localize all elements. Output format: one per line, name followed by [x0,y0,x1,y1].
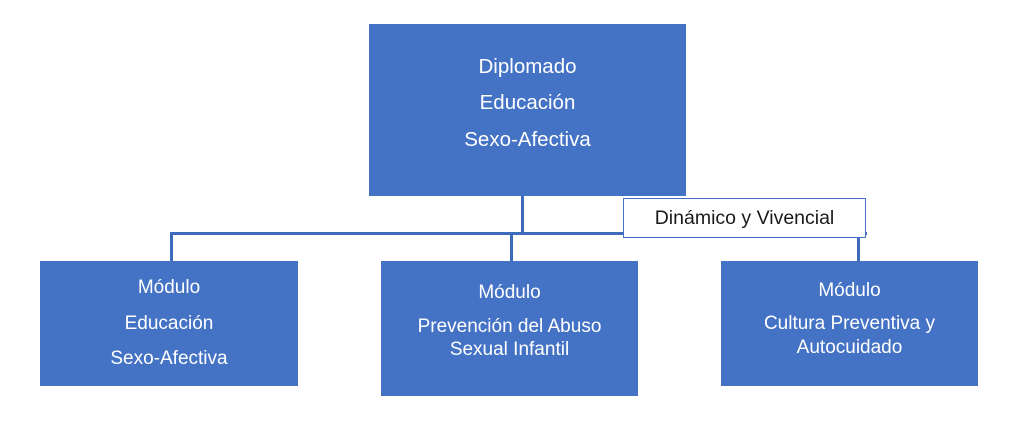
node-root-diplomado[interactable]: Diplomado Educación Sexo-Afectiva [369,24,686,196]
connector-drop-left [170,232,173,262]
node-middle-body-2: Sexual Infantil [381,338,638,362]
node-root-line-2: Educación [369,92,686,114]
node-left-body-2: Sexo-Afectiva [40,349,298,369]
node-right-body-2: Autocuidado [721,336,978,360]
callout-label-dinamico-y-vivencial[interactable]: Dinámico y Vivencial [623,198,866,238]
node-middle-title: Módulo [381,283,638,303]
callout-label-text: Dinámico y Vivencial [655,207,835,230]
node-modulo-prevencion-abuso-sexual-infantil[interactable]: Módulo Prevención del Abuso Sexual Infan… [381,261,638,396]
node-right-body-1: Cultura Preventiva y [721,312,978,336]
node-root-line-1: Diplomado [369,56,686,78]
node-modulo-cultura-preventiva-autocuidado[interactable]: Módulo Cultura Preventiva y Autocuidado [721,261,978,386]
org-chart-diagram: Diplomado Educación Sexo-Afectiva Dinámi… [0,0,1026,427]
node-left-body-1: Educación [40,314,298,334]
node-left-title: Módulo [40,278,298,298]
node-modulo-educacion-sexo-afectiva[interactable]: Módulo Educación Sexo-Afectiva [40,261,298,386]
node-middle-body-1: Prevención del Abuso [381,315,638,339]
node-right-title: Módulo [721,281,978,301]
connector-drop-middle [510,232,513,262]
node-root-line-3: Sexo-Afectiva [369,129,686,151]
connector-root-stem [521,196,524,235]
